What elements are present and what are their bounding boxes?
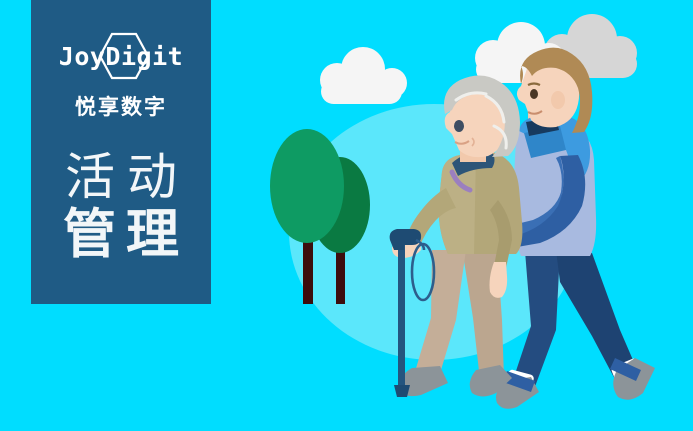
logo-subtitle: 悦享数字 <box>75 91 167 121</box>
poster-canvas: JoyDigit 悦享数字 活动 管理 <box>0 0 693 431</box>
woman-eye <box>454 120 464 132</box>
logo: JoyDigit <box>46 34 196 78</box>
logo-wordmark: JoyDigit <box>46 34 196 78</box>
cane-shaft <box>398 242 405 390</box>
title-panel: JoyDigit 悦享数字 活动 管理 <box>31 0 211 304</box>
page-title-line-1: 活动 <box>53 151 189 203</box>
page-title-line-2: 管理 <box>53 207 189 262</box>
man-eye <box>530 89 538 99</box>
man-ear <box>551 91 565 109</box>
